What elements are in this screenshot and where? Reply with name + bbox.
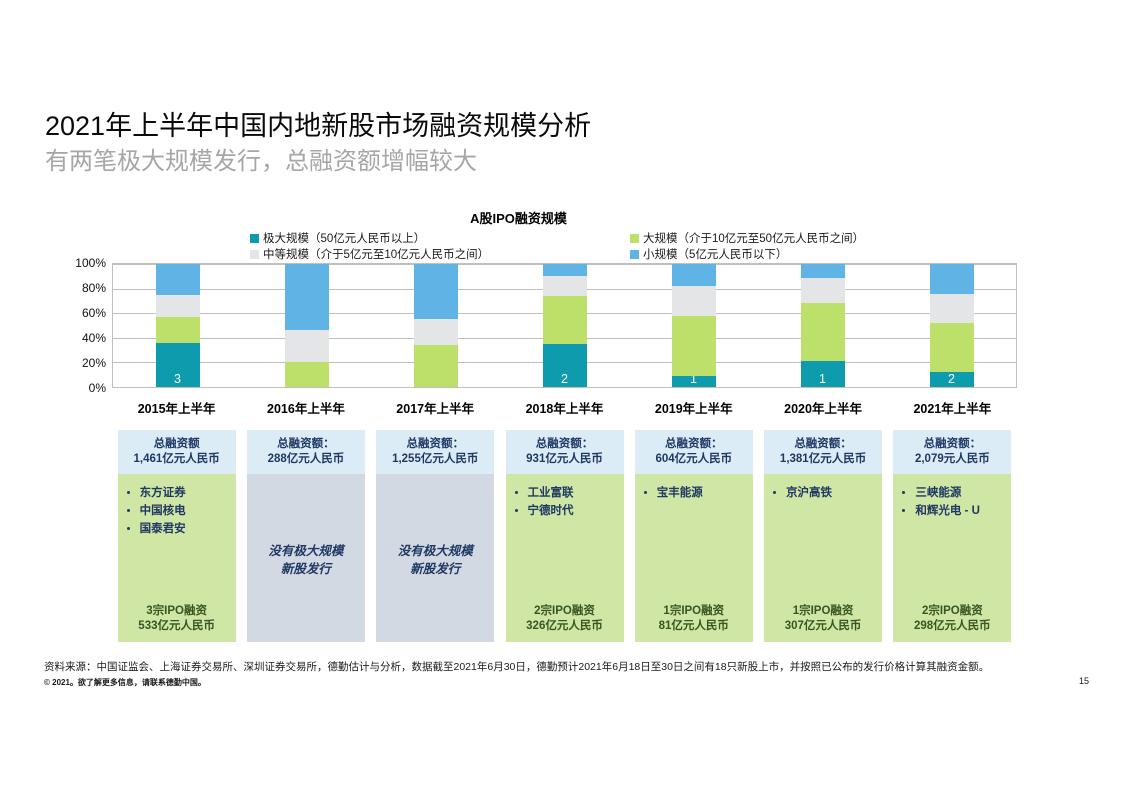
legend-item-extra-large: 极大规模（50亿元人民币以上） <box>250 230 425 246</box>
card-footer-note: 1宗IPO融资81亿元人民币 <box>635 604 753 634</box>
bar-xl: 2 <box>930 372 974 387</box>
card-empty-note: 没有极大规模新股发行 <box>268 542 343 578</box>
summary-card: 总融资额：288亿元人民币没有极大规模新股发行 <box>247 430 365 642</box>
card-company-list: 工业富联宁德时代 <box>512 484 618 520</box>
chart-column: 2 <box>887 264 1016 387</box>
card-total-header: 总融资额：1,381亿元人民币 <box>764 430 882 474</box>
bar-value-label: 2 <box>948 372 955 386</box>
bar-lg <box>672 316 716 376</box>
card-ipo-count: 2宗IPO融资 <box>506 604 624 619</box>
card-total-label: 总融资额： <box>406 437 464 452</box>
card-total-amount: 1,381亿元人民币 <box>780 452 866 467</box>
card-ipo-amount: 81亿元人民币 <box>635 619 753 634</box>
x-tick-label: 2016年上半年 <box>241 398 370 417</box>
chart-column: 3 <box>113 264 242 387</box>
y-tick-label: 60% <box>62 306 106 320</box>
y-tick-label: 80% <box>62 281 106 295</box>
card-total-amount: 604亿元人民币 <box>655 452 732 467</box>
bar-lg <box>543 296 587 344</box>
bar-xl: 1 <box>672 376 716 387</box>
card-footer-note: 2宗IPO融资298亿元人民币 <box>893 604 1011 634</box>
bar-md <box>285 330 329 362</box>
x-tick-label: 2017年上半年 <box>371 398 500 417</box>
card-ipo-amount: 533亿元人民币 <box>118 619 236 634</box>
card-total-label: 总融资额： <box>794 437 852 452</box>
card-footer-note: 3宗IPO融资533亿元人民币 <box>118 604 236 634</box>
bar-md <box>672 286 716 316</box>
bar-lg <box>285 362 329 387</box>
bar-md <box>414 319 458 345</box>
bar-value-label: 2 <box>561 372 568 386</box>
bar-sm <box>930 264 974 294</box>
bar-md <box>543 276 587 296</box>
card-body: 没有极大规模新股发行 <box>247 474 365 642</box>
card-ipo-count: 3宗IPO融资 <box>118 604 236 619</box>
page-number: 15 <box>1079 676 1089 686</box>
chart-column: 1 <box>758 264 887 387</box>
list-item: 宝丰能源 <box>641 484 747 502</box>
legend-label-small: 小规模（5亿元人民币以下） <box>643 249 787 261</box>
bar-value-label: 1 <box>819 372 826 386</box>
legend-label-large: 大规模（介于10亿元至50亿元人民币之间） <box>643 233 864 245</box>
chart-column: 2 <box>500 264 629 387</box>
chart-column <box>242 264 371 387</box>
summary-card: 总融资额：1,381亿元人民币京沪高铁1宗IPO融资307亿元人民币 <box>764 430 882 642</box>
bar-xl: 2 <box>543 344 587 387</box>
page-subtitle: 有两笔极大规模发行，总融资额增幅较大 <box>45 141 477 176</box>
x-tick-label: 2021年上半年 <box>888 398 1017 417</box>
bar-sm <box>543 264 587 276</box>
x-tick-label: 2020年上半年 <box>758 398 887 417</box>
card-body: 宝丰能源1宗IPO融资81亿元人民币 <box>635 474 753 642</box>
card-ipo-amount: 326亿元人民币 <box>506 619 624 634</box>
card-company-list: 宝丰能源 <box>641 484 747 502</box>
slide-canvas: 2021年上半年中国内地新股市场融资规模分析 有两笔极大规模发行，总融资额增幅较… <box>0 0 1122 793</box>
bar-sm <box>414 264 458 319</box>
card-total-header: 总融资额：2,079元人民币 <box>893 430 1011 474</box>
card-total-header: 总融资额：1,255亿元人民币 <box>376 430 494 474</box>
y-tick-label: 20% <box>62 356 106 370</box>
y-tick-label: 40% <box>62 331 106 345</box>
chart-y-axis: 100%80%60%40%20%0% <box>62 255 106 398</box>
card-total-header: 总融资额1,461亿元人民币 <box>118 430 236 474</box>
legend-item-large: 大规模（介于10亿元至50亿元人民币之间） <box>630 230 864 246</box>
card-total-amount: 288亿元人民币 <box>268 452 345 467</box>
card-ipo-count: 1宗IPO融资 <box>764 604 882 619</box>
legend-swatch-small <box>630 250 639 259</box>
card-company-list: 三峡能源和辉光电 - U <box>899 484 1005 520</box>
x-tick-label: 2018年上半年 <box>500 398 629 417</box>
card-ipo-count: 1宗IPO融资 <box>635 604 753 619</box>
card-body: 工业富联宁德时代2宗IPO融资326亿元人民币 <box>506 474 624 642</box>
card-footer-note: 2宗IPO融资326亿元人民币 <box>506 604 624 634</box>
chart-column <box>371 264 500 387</box>
bar-md <box>930 294 974 324</box>
x-tick-label: 2015年上半年 <box>112 398 241 417</box>
chart-plot-area: 32112 <box>112 263 1017 388</box>
card-body: 东方证券中国核电国泰君安3宗IPO融资533亿元人民币 <box>118 474 236 642</box>
bar-lg <box>414 345 458 387</box>
card-total-label: 总融资额： <box>924 437 982 452</box>
summary-cards: 总融资额1,461亿元人民币东方证券中国核电国泰君安3宗IPO融资533亿元人民… <box>112 430 1017 642</box>
card-ipo-count: 2宗IPO融资 <box>893 604 1011 619</box>
source-note: 资料来源：中国证监会、上海证券交易所、深圳证券交易所，德勤估计与分析，数据截至2… <box>44 659 1089 674</box>
bar-md <box>801 278 845 304</box>
list-item: 中国核电 <box>124 502 230 520</box>
card-total-header: 总融资额：931亿元人民币 <box>506 430 624 474</box>
bar-xl: 1 <box>801 361 845 387</box>
card-footer-note: 1宗IPO融资307亿元人民币 <box>764 604 882 634</box>
legend-swatch-medium <box>250 250 259 259</box>
card-total-header: 总融资额：288亿元人民币 <box>247 430 365 474</box>
card-ipo-amount: 307亿元人民币 <box>764 619 882 634</box>
list-item: 和辉光电 - U <box>899 502 1005 520</box>
card-total-amount: 2,079元人民币 <box>915 452 990 467</box>
bar-lg <box>156 317 200 343</box>
card-company-list: 京沪高铁 <box>770 484 876 502</box>
card-total-amount: 1,461亿元人民币 <box>134 452 220 467</box>
bar-sm <box>801 264 845 278</box>
bar-sm <box>672 264 716 286</box>
list-item: 三峡能源 <box>899 484 1005 502</box>
list-item: 工业富联 <box>512 484 618 502</box>
list-item: 东方证券 <box>124 484 230 502</box>
card-body: 没有极大规模新股发行 <box>376 474 494 642</box>
y-tick-label: 0% <box>62 381 106 395</box>
card-total-label: 总融资额： <box>536 437 594 452</box>
summary-card: 总融资额：604亿元人民币宝丰能源1宗IPO融资81亿元人民币 <box>635 430 753 642</box>
page-title: 2021年上半年中国内地新股市场融资规模分析 <box>45 104 591 143</box>
bar-xl: 3 <box>156 343 200 387</box>
card-total-label: 总融资额 <box>154 437 200 452</box>
card-company-list: 东方证券中国核电国泰君安 <box>124 484 230 538</box>
card-total-amount: 931亿元人民币 <box>526 452 603 467</box>
y-tick-label: 100% <box>62 256 106 270</box>
bar-sm <box>156 264 200 295</box>
bar-value-label: 3 <box>174 372 181 386</box>
summary-card: 总融资额：1,255亿元人民币没有极大规模新股发行 <box>376 430 494 642</box>
card-total-label: 总融资额： <box>277 437 335 452</box>
summary-card: 总融资额1,461亿元人民币东方证券中国核电国泰君安3宗IPO融资533亿元人民… <box>118 430 236 642</box>
card-ipo-amount: 298亿元人民币 <box>893 619 1011 634</box>
card-empty-note: 没有极大规模新股发行 <box>398 542 473 578</box>
list-item: 京沪高铁 <box>770 484 876 502</box>
list-item: 宁德时代 <box>512 502 618 520</box>
bar-sm <box>285 264 329 330</box>
legend-swatch-large <box>630 234 639 243</box>
card-body: 三峡能源和辉光电 - U2宗IPO融资298亿元人民币 <box>893 474 1011 642</box>
legend-item-medium: 中等规模（介于5亿元至10亿元人民币之间） <box>250 246 489 262</box>
bar-md <box>156 295 200 317</box>
summary-card: 总融资额：2,079元人民币三峡能源和辉光电 - U2宗IPO融资298亿元人民… <box>893 430 1011 642</box>
summary-card: 总融资额：931亿元人民币工业富联宁德时代2宗IPO融资326亿元人民币 <box>506 430 624 642</box>
card-total-header: 总融资额：604亿元人民币 <box>635 430 753 474</box>
bar-lg <box>930 323 974 372</box>
list-item: 国泰君安 <box>124 520 230 538</box>
bar-lg <box>801 303 845 361</box>
chart-title-text: A股IPO融资规模 <box>470 208 567 227</box>
legend-label-extra-large: 极大规模（50亿元人民币以上） <box>263 233 425 245</box>
card-total-amount: 1,255亿元人民币 <box>392 452 478 467</box>
x-tick-label: 2019年上半年 <box>629 398 758 417</box>
legend-label-medium: 中等规模（介于5亿元至10亿元人民币之间） <box>263 249 489 261</box>
chart-x-axis: 2015年上半年2016年上半年2017年上半年2018年上半年2019年上半年… <box>112 398 1017 420</box>
chart-title: A股IPO融资规模 <box>0 208 1122 227</box>
chart-legend: 极大规模（50亿元人民币以上） 大规模（介于10亿元至50亿元人民币之间） 中等… <box>250 230 910 262</box>
copyright-note: © 2021。欲了解更多信息，请联系德勤中国。 <box>44 677 206 688</box>
card-total-label: 总融资额： <box>665 437 723 452</box>
card-body: 京沪高铁1宗IPO融资307亿元人民币 <box>764 474 882 642</box>
chart-column: 1 <box>629 264 758 387</box>
legend-swatch-extra-large <box>250 234 259 243</box>
legend-item-small: 小规模（5亿元人民币以下） <box>630 246 787 262</box>
